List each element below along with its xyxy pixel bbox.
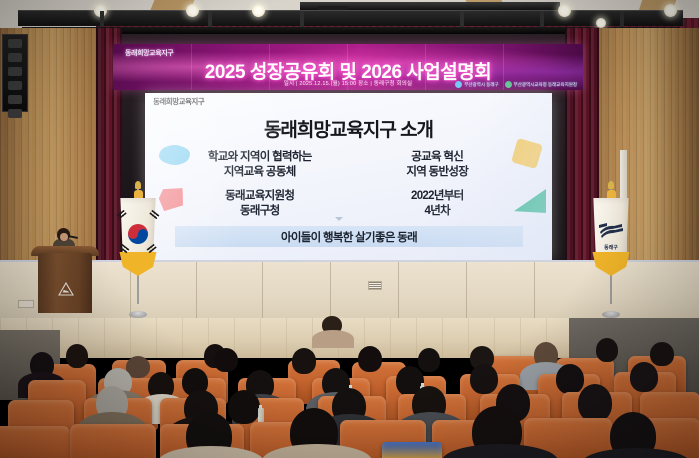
credit-item: 부산광역시 동래구 (455, 81, 498, 88)
audience-head (630, 362, 658, 392)
downlight-icon (186, 4, 199, 17)
education-office-logo-icon (505, 81, 512, 88)
presenter-face (60, 233, 68, 241)
audience-head (292, 348, 316, 374)
downlight-icon (664, 4, 677, 17)
banner-credits: 부산광역시 동래구 부산광역시교육청 동래교육지원청 (455, 81, 577, 88)
auditorium-seat (0, 426, 70, 458)
downlight-icon (558, 4, 571, 17)
audience-head (650, 342, 674, 366)
audience-head (214, 348, 238, 372)
structural-seam (398, 262, 399, 322)
slide-content-grid: 학교와 지역이 협력하는 지역교육 공동체 공교육 혁신 지역 동반성장 동래교… (171, 145, 526, 223)
flag-emblem-label: 동래구 (604, 244, 618, 251)
flag-finial-icon (608, 181, 614, 189)
truss-clamp (620, 11, 624, 27)
audience-head (418, 348, 440, 372)
audience-head (596, 338, 618, 362)
audience-head (470, 364, 498, 394)
structural-seam (196, 262, 197, 322)
district-logo-icon (455, 81, 462, 88)
audience-head (556, 364, 584, 394)
podium-emblem-icon (58, 282, 74, 296)
slide-title: 동래희망교육지구 소개 (145, 115, 552, 142)
truss-clamp (208, 11, 212, 27)
backpack (382, 442, 442, 458)
audience-area (0, 316, 699, 458)
structural-seam (262, 262, 263, 322)
truss-clamp (100, 11, 104, 27)
slide-logo: 동래희망교육지구 (153, 96, 204, 107)
slide-footer-slogan: 아이들이 행복한 살기좋은 동래 (175, 226, 523, 247)
audience-shoulders (312, 330, 354, 348)
slide-cell: 2022년부터 4년차 (349, 184, 527, 223)
auditorium-seat (70, 424, 156, 458)
audience-head (228, 390, 260, 424)
district-emblem-icon (598, 220, 624, 242)
downlight-icon (252, 4, 265, 17)
slide-cell: 학교와 지역이 협력하는 지역교육 공동체 (171, 145, 349, 184)
lighting-truss-main (18, 10, 683, 26)
projection-screen: 동래희망교육지구 동래희망교육지구 소개 학교와 지역이 협력하는 지역교육 공… (145, 93, 552, 261)
structural-seam (466, 262, 467, 322)
audience-head (66, 344, 88, 368)
conference-hall-photo: 동래희망교육지구 2025 성장공유회 및 2026 사업설명회 일시 | 20… (0, 0, 699, 458)
slide-cell: 공교육 혁신 지역 동반성장 (349, 145, 527, 184)
structural-seam (330, 262, 331, 322)
truss-clamp (540, 11, 544, 27)
speaker-array-icon (2, 34, 28, 112)
downlight-icon (596, 18, 606, 28)
flag-hem (117, 252, 159, 276)
structural-seam (534, 262, 535, 322)
credit-item: 부산광역시교육청 동래교육지원청 (505, 81, 577, 88)
taeguk-symbol-icon (128, 224, 148, 244)
flag-finial-icon (135, 181, 141, 189)
flag-hem (590, 252, 632, 276)
truss-clamp (300, 11, 304, 27)
truss-clamp (460, 11, 464, 27)
wall-vent-icon (368, 281, 382, 290)
korean-national-flag (110, 186, 166, 314)
audience-head (578, 384, 612, 422)
organization-flag: 동래구 (583, 186, 639, 314)
led-banner: 동래희망교육지구 2025 성장공유회 및 2026 사업설명회 일시 | 20… (113, 44, 583, 90)
slide-cell: 동래교육지원청 동래구청 (171, 184, 349, 223)
wall-outlet-icon (18, 300, 34, 308)
audience-head (358, 346, 382, 372)
